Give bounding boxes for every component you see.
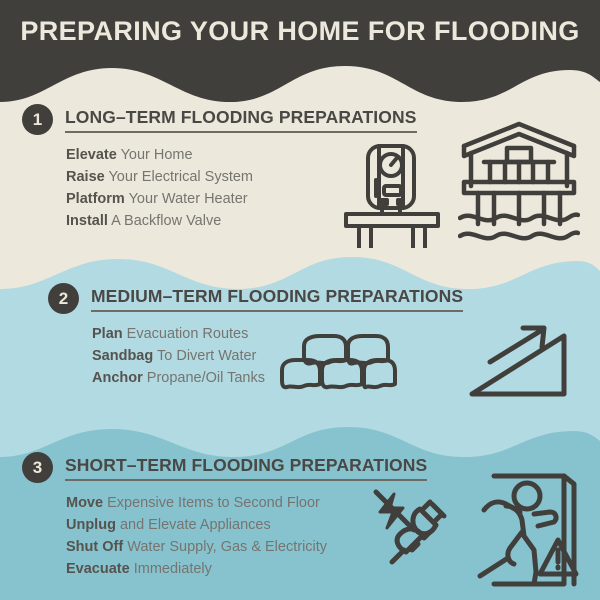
ramp-arrow-icon: [468, 322, 573, 400]
list-item: Shut Off Water Supply, Gas & Electricity: [66, 536, 427, 558]
list-item: Elevate Your Home: [66, 144, 417, 166]
list-item: Platform Your Water Heater: [66, 188, 417, 210]
list-item-rest: Immediately: [130, 561, 212, 577]
step-number-badge-2: 2: [48, 283, 79, 314]
list-item-rest: Expensive Items to Second Floor: [103, 495, 320, 511]
list-item: Install A Backflow Valve: [66, 210, 417, 232]
list-item-rest: and Elevate Appliances: [116, 517, 271, 533]
list-item-lead: Evacuate: [66, 561, 130, 577]
list-item: Raise Your Electrical System: [66, 166, 417, 188]
list-item-rest: Evacuation Routes: [123, 326, 249, 342]
list-item-rest: Your Home: [117, 147, 193, 163]
list-item-lead: Shut Off: [66, 539, 123, 555]
list-item-lead: Anchor: [92, 370, 143, 386]
list-item: Sandbag To Divert Water: [92, 345, 463, 367]
list-item-lead: Unplug: [66, 517, 116, 533]
list-item-rest: To Divert Water: [153, 348, 256, 364]
list-item: Evacuate Immediately: [66, 558, 427, 580]
evacuate-exit-icon: [472, 462, 590, 590]
list-item-rest: A Backflow Valve: [108, 213, 221, 229]
section-medium-term: 2 MEDIUM–TERM FLOODING PREPARATIONS Plan…: [48, 283, 463, 389]
list-item-lead: Platform: [66, 191, 125, 207]
step-number-badge-1: 1: [22, 104, 53, 135]
section-two-title: MEDIUM–TERM FLOODING PREPARATIONS: [91, 286, 463, 312]
list-item: Plan Evacuation Routes: [92, 323, 463, 345]
elevated-stilt-house-icon: [458, 120, 580, 244]
section-three-heading-row: 3 SHORT–TERM FLOODING PREPARATIONS: [22, 452, 427, 483]
list-item-lead: Move: [66, 495, 103, 511]
step-number-badge-3: 3: [22, 452, 53, 483]
section-long-term: 1 LONG–TERM FLOODING PREPARATIONS Elevat…: [22, 104, 417, 232]
list-item-lead: Plan: [92, 326, 123, 342]
section-three-list: Move Expensive Items to Second Floor Unp…: [66, 492, 427, 580]
list-item-lead: Raise: [66, 169, 105, 185]
list-item: Unplug and Elevate Appliances: [66, 514, 427, 536]
list-item-rest: Your Water Heater: [125, 191, 248, 207]
section-three-title: SHORT–TERM FLOODING PREPARATIONS: [65, 455, 427, 481]
section-one-title: LONG–TERM FLOODING PREPARATIONS: [65, 107, 417, 133]
flooding-preparedness-infographic: PREPARING YOUR HOME FOR FLOODING 1 LONG–…: [0, 0, 600, 600]
list-item: Anchor Propane/Oil Tanks: [92, 367, 463, 389]
list-item-rest: Water Supply, Gas & Electricity: [123, 539, 327, 555]
section-two-heading-row: 2 MEDIUM–TERM FLOODING PREPARATIONS: [48, 283, 463, 314]
list-item-lead: Sandbag: [92, 348, 153, 364]
list-item-rest: Propane/Oil Tanks: [143, 370, 265, 386]
list-item-lead: Elevate: [66, 147, 117, 163]
list-item: Move Expensive Items to Second Floor: [66, 492, 427, 514]
wave-divider-header: [0, 62, 600, 108]
section-one-list: Elevate Your Home Raise Your Electrical …: [66, 144, 417, 232]
list-item-lead: Install: [66, 213, 108, 229]
section-short-term: 3 SHORT–TERM FLOODING PREPARATIONS Move …: [22, 452, 427, 580]
section-one-heading-row: 1 LONG–TERM FLOODING PREPARATIONS: [22, 104, 417, 135]
list-item-rest: Your Electrical System: [105, 169, 253, 185]
section-two-list: Plan Evacuation Routes Sandbag To Divert…: [92, 323, 463, 389]
page-title: PREPARING YOUR HOME FOR FLOODING: [0, 0, 600, 62]
